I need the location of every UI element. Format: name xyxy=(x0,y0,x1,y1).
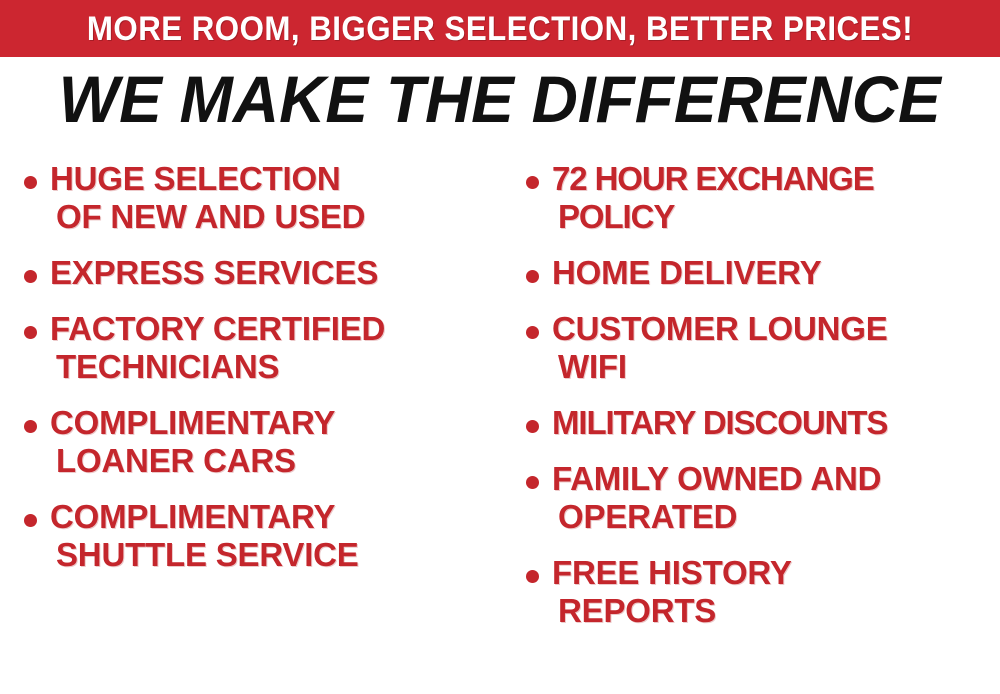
benefit-label-line2: POLICY xyxy=(552,198,1000,236)
benefit-item: FAMILY OWNED AND OPERATED xyxy=(516,460,1000,536)
bullet-dot-icon xyxy=(24,176,37,189)
benefit-item: COMPLIMENTARY SHUTTLE SERVICE xyxy=(14,498,500,574)
benefit-item: MILITARY DISCOUNTS xyxy=(516,404,1000,442)
benefit-item: COMPLIMENTARY LOANER CARS xyxy=(14,404,500,480)
benefit-label: EXPRESS SERVICES xyxy=(50,254,500,292)
benefit-label-line1: FAMILY OWNED AND xyxy=(552,460,881,497)
benefit-label-line2: REPORTS xyxy=(552,592,1000,630)
benefit-item: 72 HOUR EXCHANGE POLICY xyxy=(516,160,1000,236)
benefit-label-line2: LOANER CARS xyxy=(50,442,500,480)
benefit-item: FREE HISTORY REPORTS xyxy=(516,554,1000,630)
benefit-label-line1: FREE HISTORY xyxy=(552,554,792,591)
benefit-label-line2: SHUTTLE SERVICE xyxy=(50,536,500,574)
benefit-label-line2: TECHNICIANS xyxy=(50,348,500,386)
benefit-label: HUGE SELECTION OF NEW AND USED xyxy=(50,160,500,236)
benefit-item: HOME DELIVERY xyxy=(516,254,1000,292)
benefit-label-line2: WIFI xyxy=(552,348,1000,386)
benefit-label: MILITARY DISCOUNTS xyxy=(552,404,1000,442)
benefit-item: FACTORY CERTIFIED TECHNICIANS xyxy=(14,310,500,386)
benefit-label: FAMILY OWNED AND OPERATED xyxy=(552,460,1000,536)
benefit-label-line2: OF NEW AND USED xyxy=(50,198,500,236)
bullet-dot-icon xyxy=(24,326,37,339)
benefit-column-left: HUGE SELECTION OF NEW AND USED EXPRESS S… xyxy=(14,160,500,592)
benefit-label-line1: FACTORY CERTIFIED xyxy=(50,310,385,347)
headline: WE MAKE THE DIFFERENCE xyxy=(0,62,1000,136)
benefit-label: 72 HOUR EXCHANGE POLICY xyxy=(552,160,1000,236)
benefit-item: CUSTOMER LOUNGE WIFI xyxy=(516,310,1000,386)
bullet-dot-icon xyxy=(526,326,539,339)
bullet-dot-icon xyxy=(24,420,37,433)
promo-banner-text: MORE ROOM, BIGGER SELECTION, BETTER PRIC… xyxy=(87,12,913,46)
benefit-label-line1: COMPLIMENTARY xyxy=(50,404,335,441)
benefit-label: COMPLIMENTARY LOANER CARS xyxy=(50,404,500,480)
bullet-dot-icon xyxy=(24,270,37,283)
benefits-section: HUGE SELECTION OF NEW AND USED EXPRESS S… xyxy=(0,160,1000,694)
bullet-dot-icon xyxy=(526,570,539,583)
benefit-label-line1: CUSTOMER LOUNGE xyxy=(552,310,888,347)
promo-banner: MORE ROOM, BIGGER SELECTION, BETTER PRIC… xyxy=(0,0,1000,57)
benefit-label-line1: 72 HOUR EXCHANGE xyxy=(552,160,874,197)
benefit-label: HOME DELIVERY xyxy=(552,254,1000,292)
benefit-item: EXPRESS SERVICES xyxy=(14,254,500,292)
bullet-dot-icon xyxy=(526,176,539,189)
benefit-label: FREE HISTORY REPORTS xyxy=(552,554,1000,630)
headline-text: WE MAKE THE DIFFERENCE xyxy=(59,62,941,136)
benefit-label-line1: COMPLIMENTARY xyxy=(50,498,335,535)
bullet-dot-icon xyxy=(526,420,539,433)
benefit-label-line1: EXPRESS SERVICES xyxy=(50,254,378,291)
bullet-dot-icon xyxy=(24,514,37,527)
benefit-label: CUSTOMER LOUNGE WIFI xyxy=(552,310,1000,386)
benefit-label: FACTORY CERTIFIED TECHNICIANS xyxy=(50,310,500,386)
bullet-dot-icon xyxy=(526,476,539,489)
benefit-item: HUGE SELECTION OF NEW AND USED xyxy=(14,160,500,236)
benefit-column-right: 72 HOUR EXCHANGE POLICY HOME DELIVERY CU… xyxy=(516,160,1000,648)
benefit-label: COMPLIMENTARY SHUTTLE SERVICE xyxy=(50,498,500,574)
benefit-label-line2: OPERATED xyxy=(552,498,1000,536)
bullet-dot-icon xyxy=(526,270,539,283)
benefit-label-line1: MILITARY DISCOUNTS xyxy=(552,404,887,441)
benefit-label-line1: HOME DELIVERY xyxy=(552,254,821,291)
benefit-label-line1: HUGE SELECTION xyxy=(50,160,341,197)
